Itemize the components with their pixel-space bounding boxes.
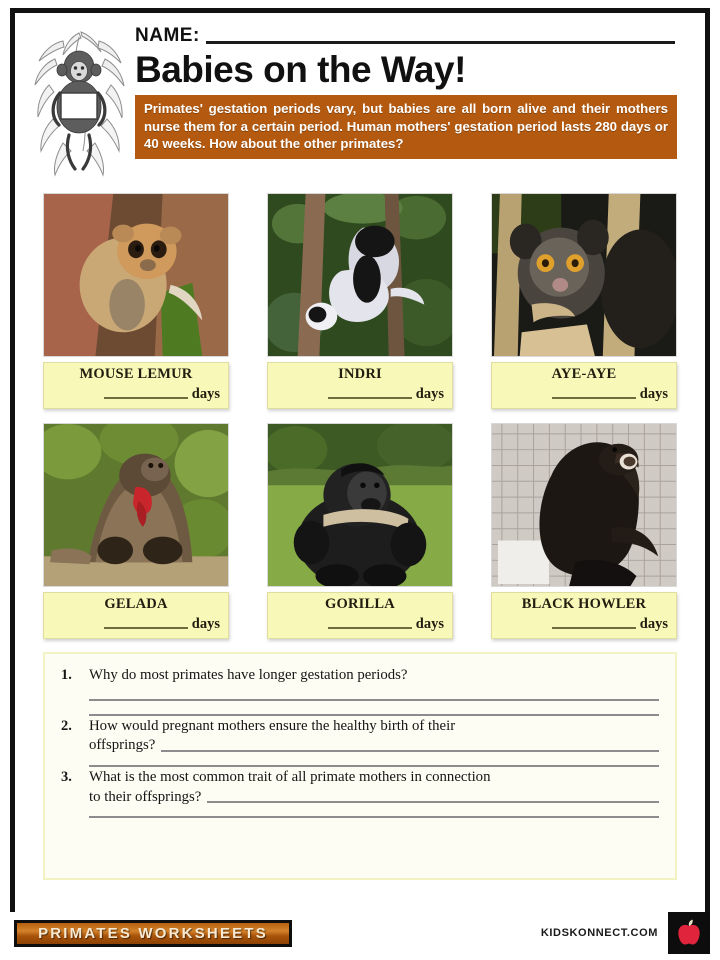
apple-icon: [676, 919, 702, 947]
worksheet-page: NAME: Babies on the Way! Primates' gesta…: [0, 0, 720, 960]
worksheet-series-badge: PRIMATES WORKSHEETS: [14, 920, 292, 947]
question-3: 3. What is the most common trait of all …: [55, 768, 659, 818]
mouse-lemur-photo: [43, 193, 229, 357]
primate-name: BLACK HOWLER: [500, 597, 668, 613]
days-unit-label: days: [640, 616, 668, 633]
primate-name: INDRI: [276, 367, 444, 383]
primate-card-gorilla: GORILLA days: [267, 423, 453, 639]
answer-line[interactable]: [89, 699, 659, 701]
primate-name: GELADA: [52, 597, 220, 613]
answer-blank-line[interactable]: [552, 397, 636, 399]
name-input-line[interactable]: [206, 41, 675, 44]
answer-line[interactable]: [89, 714, 659, 716]
gorilla-photo: [267, 423, 453, 587]
page-title: Babies on the Way!: [135, 50, 691, 90]
answer-blank-line[interactable]: [328, 397, 412, 399]
days-unit-label: days: [192, 386, 220, 403]
gorilla-label-box: GORILLA days: [267, 592, 453, 639]
aye-aye-label-box: AYE-AYE days: [491, 362, 677, 409]
questions-box: 1. Why do most primates have longer gest…: [43, 652, 677, 880]
days-answer-row[interactable]: days: [500, 616, 668, 633]
primate-card-row-2: GELADA days: [29, 423, 691, 639]
question-text: Why do most primates have longer gestati…: [89, 666, 659, 686]
gelada-photo: [43, 423, 229, 587]
question-body: How would pregnant mothers ensure the he…: [89, 717, 659, 767]
days-unit-label: days: [640, 386, 668, 403]
site-url-label: KIDSKONNECT.COM: [541, 927, 658, 939]
question-1: 1. Why do most primates have longer gest…: [55, 666, 659, 716]
worksheet-header: NAME: Babies on the Way! Primates' gesta…: [29, 19, 691, 189]
aye-aye-photo: [491, 193, 677, 357]
question-text-continued: to their offsprings?: [89, 788, 201, 808]
monkey-illustration-icon: [29, 23, 129, 183]
days-unit-label: days: [416, 386, 444, 403]
intro-banner: Primates' gestation periods vary, but ba…: [135, 95, 677, 159]
days-answer-row[interactable]: days: [52, 386, 220, 403]
indri-photo: [267, 193, 453, 357]
days-answer-row[interactable]: days: [500, 386, 668, 403]
question-text-continued: offsprings?: [89, 736, 155, 756]
black-howler-label-box: BLACK HOWLER days: [491, 592, 677, 639]
question-text: How would pregnant mothers ensure the he…: [89, 717, 659, 737]
answer-line[interactable]: [89, 816, 659, 818]
days-answer-row[interactable]: days: [52, 616, 220, 633]
gelada-label-box: GELADA days: [43, 592, 229, 639]
answer-line[interactable]: [161, 750, 659, 752]
days-unit-label: days: [416, 616, 444, 633]
question-number: 1.: [55, 666, 89, 684]
primate-card-mouse-lemur: MOUSE LEMUR days: [43, 193, 229, 409]
question-body: What is the most common trait of all pri…: [89, 768, 659, 818]
days-answer-row[interactable]: days: [276, 386, 444, 403]
primate-card-black-howler: BLACK HOWLER days: [491, 423, 677, 639]
primate-name: GORILLA: [276, 597, 444, 613]
answer-blank-line[interactable]: [552, 627, 636, 629]
question-continuation-row: to their offsprings?: [89, 788, 659, 808]
question-number: 2.: [55, 717, 89, 735]
primate-card-gelada: GELADA days: [43, 423, 229, 639]
name-field-row[interactable]: NAME:: [135, 21, 691, 47]
answer-blank-line[interactable]: [104, 627, 188, 629]
primate-name: AYE-AYE: [500, 367, 668, 383]
answer-line[interactable]: [207, 801, 659, 803]
answer-blank-line[interactable]: [104, 397, 188, 399]
primate-card-aye-aye: AYE-AYE days: [491, 193, 677, 409]
badge-label: PRIMATES WORKSHEETS: [38, 925, 268, 942]
days-unit-label: days: [192, 616, 220, 633]
answer-blank-line[interactable]: [328, 627, 412, 629]
question-body: Why do most primates have longer gestati…: [89, 666, 659, 716]
question-number: 3.: [55, 768, 89, 786]
worksheet-sheet: NAME: Babies on the Way! Primates' gesta…: [10, 8, 710, 954]
primate-name: MOUSE LEMUR: [52, 367, 220, 383]
question-2: 2. How would pregnant mothers ensure the…: [55, 717, 659, 767]
black-howler-photo: [491, 423, 677, 587]
brand-logo-tile: [668, 912, 710, 954]
indri-label-box: INDRI days: [267, 362, 453, 409]
question-text: What is the most common trait of all pri…: [89, 768, 659, 788]
header-text-block: NAME: Babies on the Way! Primates' gesta…: [129, 19, 691, 159]
name-label: NAME:: [135, 25, 200, 47]
mouse-lemur-label-box: MOUSE LEMUR days: [43, 362, 229, 409]
primate-card-row-1: MOUSE LEMUR days: [29, 193, 691, 409]
days-answer-row[interactable]: days: [276, 616, 444, 633]
primate-card-indri: INDRI days: [267, 193, 453, 409]
answer-line[interactable]: [89, 765, 659, 767]
question-continuation-row: offsprings?: [89, 736, 659, 756]
worksheet-footer: PRIMATES WORKSHEETS KIDSKONNECT.COM: [10, 912, 710, 954]
